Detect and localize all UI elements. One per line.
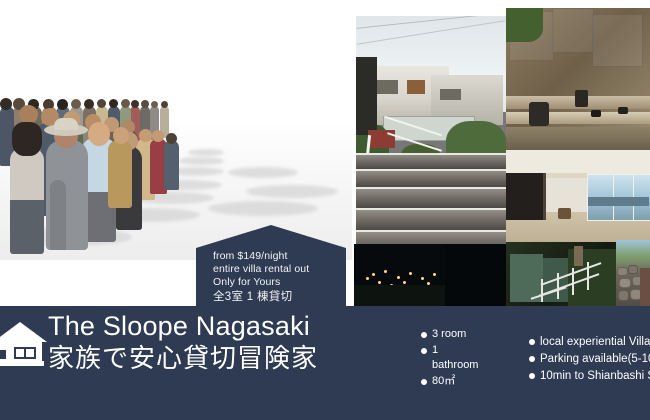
crowd-queue-photo bbox=[0, 8, 352, 260]
stone-wall-photo bbox=[616, 240, 650, 310]
price-badge-text: from $149/night entire villa rental out … bbox=[213, 250, 340, 305]
property-photo-grid bbox=[356, 8, 650, 306]
price-line-jp: 全3室 1 棟貸切 bbox=[213, 290, 340, 305]
green-path-photo bbox=[506, 242, 616, 310]
page-title: The Sloope Nagasaki bbox=[48, 310, 378, 342]
list-item: Parking available(5-10$) bbox=[529, 351, 650, 368]
list-item: 10min to Shianbashi Sta. bbox=[529, 368, 650, 385]
interior-room-photo bbox=[506, 150, 650, 244]
house-icon bbox=[0, 320, 48, 370]
rental-line: entire villa rental out bbox=[213, 263, 340, 276]
exclusive-line: Only for Yours bbox=[213, 276, 340, 289]
night-cityscape-photo bbox=[354, 244, 506, 310]
people-on-steps-photo bbox=[506, 8, 650, 150]
stone-stairs-photo bbox=[356, 16, 506, 244]
info-bar: The Sloope Nagasaki 家族で安心貸切冒険家 3 room 1 … bbox=[0, 306, 650, 420]
page-title-jp: 家族で安心貸切冒険家 bbox=[48, 343, 378, 373]
features-list: local experiential Villa Parking availab… bbox=[489, 334, 650, 385]
specs-list: 3 room 1 bathroom 80㎡ bbox=[381, 327, 478, 389]
list-item: 80㎡ bbox=[421, 374, 478, 390]
advertisement-poster: from $149/night entire villa rental out … bbox=[0, 0, 650, 420]
list-item-continued: bathroom bbox=[421, 358, 478, 374]
list-item: local experiential Villa bbox=[529, 334, 650, 351]
title-block: The Sloope Nagasaki 家族で安心貸切冒険家 bbox=[48, 310, 378, 373]
list-item: 3 room bbox=[421, 327, 478, 343]
list-item: 1 bbox=[421, 343, 478, 359]
price-line: from $149/night bbox=[213, 250, 340, 263]
